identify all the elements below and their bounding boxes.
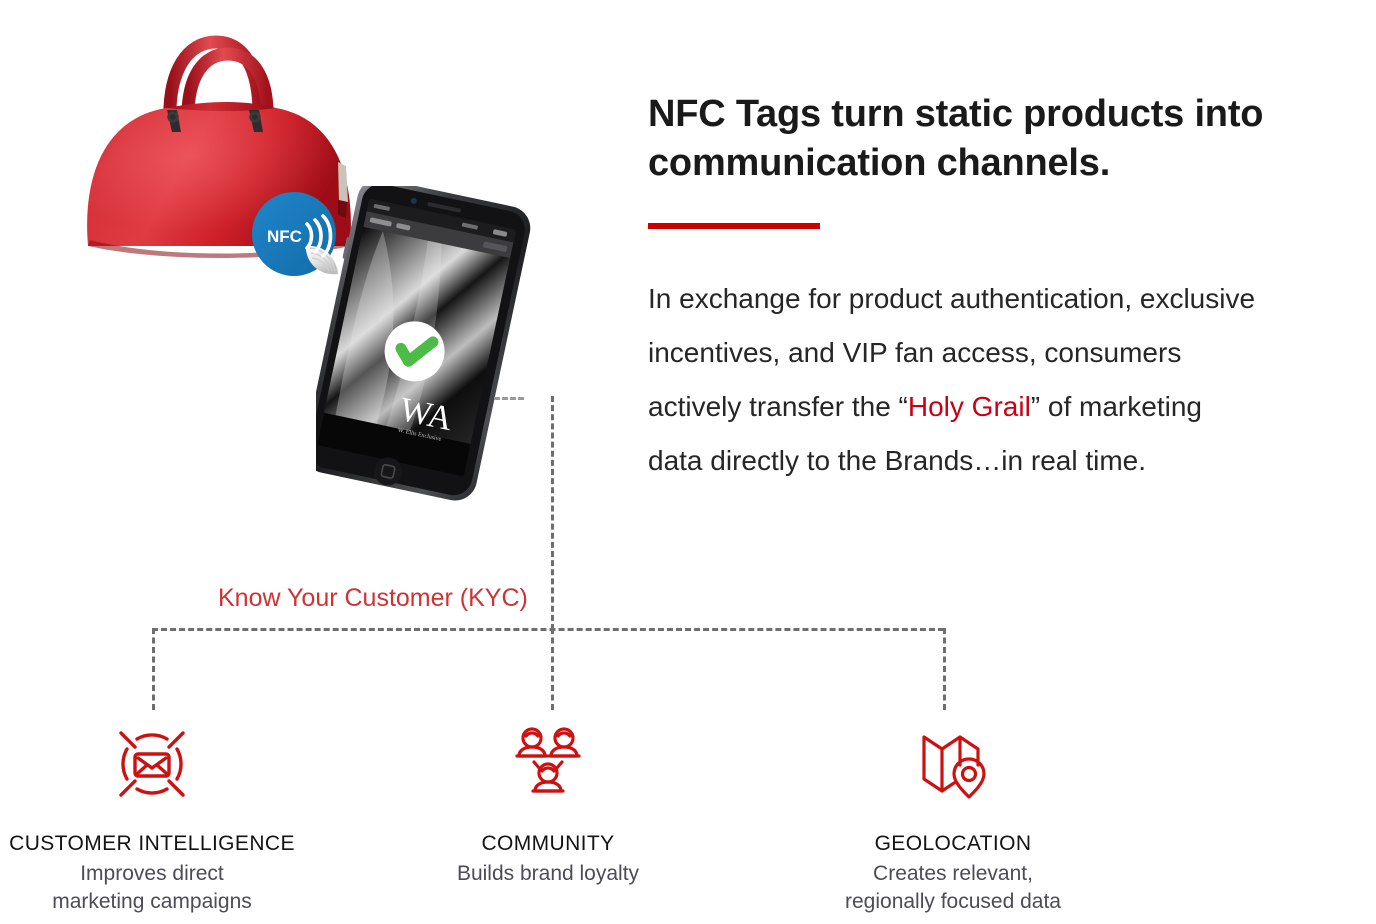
column-geolocation: GEOLOCATION Creates relevant,regionally … bbox=[798, 718, 1108, 916]
map-pin-glyph bbox=[910, 721, 996, 807]
column-subtitle: Creates relevant,regionally focused data bbox=[798, 860, 1108, 916]
body-paragraph: In exchange for product authentication, … bbox=[648, 272, 1258, 488]
column-title: CUSTOMER INTELLIGENCE bbox=[0, 832, 307, 856]
community-people-glyph bbox=[505, 721, 591, 807]
connector-trunk-vertical bbox=[551, 396, 554, 630]
accent-divider bbox=[648, 223, 820, 229]
smartphone-image: WA W. Ellis Exclusive bbox=[316, 186, 541, 506]
community-people-icon bbox=[393, 718, 703, 810]
envelope-broadcast-glyph bbox=[109, 721, 195, 807]
column-title: GEOLOCATION bbox=[798, 832, 1108, 856]
map-pin-icon bbox=[798, 718, 1108, 810]
envelope-broadcast-icon bbox=[0, 718, 307, 810]
connector-stub bbox=[494, 397, 524, 400]
column-subtitle: Builds brand loyalty bbox=[393, 860, 703, 888]
connector-bus-horizontal bbox=[152, 628, 944, 631]
column-subtitle-text: Improves directmarketing campaigns bbox=[52, 862, 252, 913]
column-community: COMMUNITY Builds brand loyalty bbox=[393, 718, 703, 888]
column-title: COMMUNITY bbox=[393, 832, 703, 856]
column-subtitle: Improves directmarketing campaigns bbox=[0, 860, 307, 916]
column-customer-intelligence: CUSTOMER INTELLIGENCE Improves directmar… bbox=[0, 718, 307, 916]
column-subtitle-text: Creates relevant,regionally focused data bbox=[845, 862, 1061, 913]
body-highlight: Holy Grail bbox=[908, 391, 1031, 422]
smartphone-illustration: WA W. Ellis Exclusive bbox=[316, 186, 541, 506]
connector-drop-left bbox=[152, 628, 155, 710]
page-title: NFC Tags turn static products into commu… bbox=[648, 90, 1288, 187]
slide-canvas: NFC bbox=[0, 0, 1376, 924]
nfc-label: NFC bbox=[267, 227, 302, 246]
connector-drop-center bbox=[551, 628, 554, 710]
column-subtitle-text: Builds brand loyalty bbox=[457, 862, 639, 885]
kyc-label: Know Your Customer (KYC) bbox=[218, 584, 528, 613]
connector-drop-right bbox=[943, 628, 946, 710]
